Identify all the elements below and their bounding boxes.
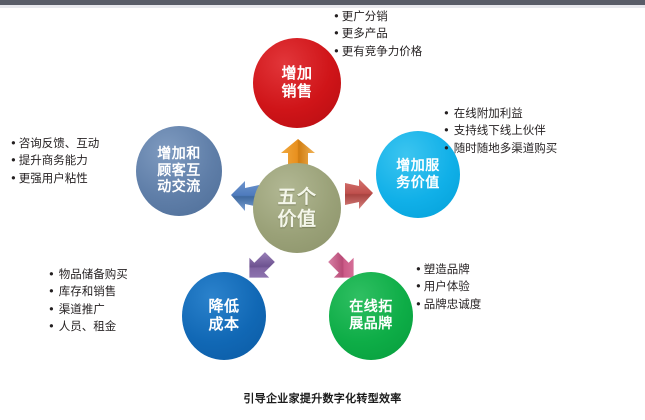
- bullet-dot-icon: •: [415, 297, 422, 311]
- list-item: •用户体验: [415, 278, 481, 295]
- bullet-dot-icon: •: [10, 171, 17, 185]
- bullet-dot-icon: •: [443, 123, 450, 137]
- list-item: •物品储备购买: [48, 266, 128, 283]
- list-item: •塑造品牌: [415, 261, 481, 278]
- window-top-bar-highlight: [0, 5, 645, 8]
- bullet-dot-icon: •: [415, 279, 422, 293]
- bullet-dot-icon: •: [10, 136, 17, 150]
- list-item: •库存和销售: [48, 283, 128, 300]
- node-online-brand-expansion-label: 在线拓 展品牌: [349, 299, 393, 332]
- bullets-increase-sales: •更广分销 •更多产品 •更有竞争力价格: [333, 8, 422, 60]
- bullets-increase-service-value: •在线附加利益 •支持线下线上伙伴 •随时随地多渠道购买: [443, 105, 557, 157]
- bullet-dot-icon: •: [48, 267, 55, 281]
- list-item-text: 提升商务能力: [19, 153, 88, 167]
- slide-canvas: 五个 价值 增加 销售 增加服 务价值 增加和 顾客互 动交流 降低 成本 在线…: [0, 0, 645, 420]
- bullets-customer-interaction: •咨询反馈、互动 •提升商务能力 •更强用户粘性: [10, 135, 99, 187]
- node-reduce-cost[interactable]: 降低 成本: [182, 272, 266, 360]
- list-item-text: 更有竞争力价格: [342, 44, 423, 58]
- list-item: •更广分销: [333, 8, 422, 25]
- bullets-online-brand-expansion: •塑造品牌 •用户体验 •品牌忠诚度: [415, 261, 481, 313]
- node-increase-sales-label: 增加 销售: [281, 65, 312, 100]
- slide-caption: 引导企业家提升数字化转型效率: [0, 390, 645, 406]
- bullet-dot-icon: •: [48, 319, 55, 333]
- list-item: •提升商务能力: [10, 152, 99, 169]
- bullet-dot-icon: •: [333, 9, 340, 23]
- list-item: •品牌忠诚度: [415, 296, 481, 313]
- list-item-text: 咨询反馈、互动: [19, 136, 100, 150]
- bullet-dot-icon: •: [48, 284, 55, 298]
- list-item: •更有竞争力价格: [333, 43, 422, 60]
- list-item: •更强用户粘性: [10, 170, 99, 187]
- list-item-text: 品牌忠诚度: [424, 297, 482, 311]
- bullet-dot-icon: •: [333, 44, 340, 58]
- node-online-brand-expansion[interactable]: 在线拓 展品牌: [329, 272, 413, 360]
- node-increase-service-value-label: 增加服 务价值: [396, 158, 440, 191]
- bullet-dot-icon: •: [443, 106, 450, 120]
- list-item: •支持线下线上伙伴: [443, 122, 557, 139]
- center-node-five-values[interactable]: 五个 价值: [253, 163, 341, 253]
- bullet-dot-icon: •: [10, 153, 17, 167]
- list-item: •渠道推广: [48, 301, 128, 318]
- list-item: •人员、租金: [48, 318, 128, 335]
- list-item-text: 支持线下线上伙伴: [454, 123, 546, 137]
- bullets-reduce-cost: •物品储备购买 •库存和销售 •渠道推广 •人员、租金: [48, 266, 128, 336]
- bullet-dot-icon: •: [333, 26, 340, 40]
- list-item: •咨询反馈、互动: [10, 135, 99, 152]
- list-item-text: 随时随地多渠道购买: [454, 141, 558, 155]
- list-item-text: 用户体验: [424, 279, 470, 293]
- list-item-text: 在线附加利益: [454, 106, 523, 120]
- list-item-text: 渠道推广: [59, 302, 105, 316]
- list-item-text: 物品储备购买: [59, 267, 128, 281]
- node-customer-interaction[interactable]: 增加和 顾客互 动交流: [136, 126, 222, 216]
- list-item-text: 塑造品牌: [424, 262, 470, 276]
- list-item-text: 更广分销: [342, 9, 388, 23]
- list-item-text: 库存和销售: [59, 284, 117, 298]
- list-item: •随时随地多渠道购买: [443, 140, 557, 157]
- bullet-dot-icon: •: [415, 262, 422, 276]
- node-increase-sales[interactable]: 增加 销售: [253, 38, 341, 128]
- node-customer-interaction-label: 增加和 顾客互 动交流: [157, 146, 201, 196]
- list-item-text: 更多产品: [342, 26, 388, 40]
- arrow-right-icon: [342, 176, 376, 214]
- center-node-label: 五个 价值: [277, 186, 316, 231]
- node-reduce-cost-label: 降低 成本: [208, 298, 239, 333]
- list-item: •更多产品: [333, 25, 422, 42]
- list-item: •在线附加利益: [443, 105, 557, 122]
- list-item-text: 人员、租金: [59, 319, 117, 333]
- list-item-text: 更强用户粘性: [19, 171, 88, 185]
- bullet-dot-icon: •: [443, 141, 450, 155]
- bullet-dot-icon: •: [48, 302, 55, 316]
